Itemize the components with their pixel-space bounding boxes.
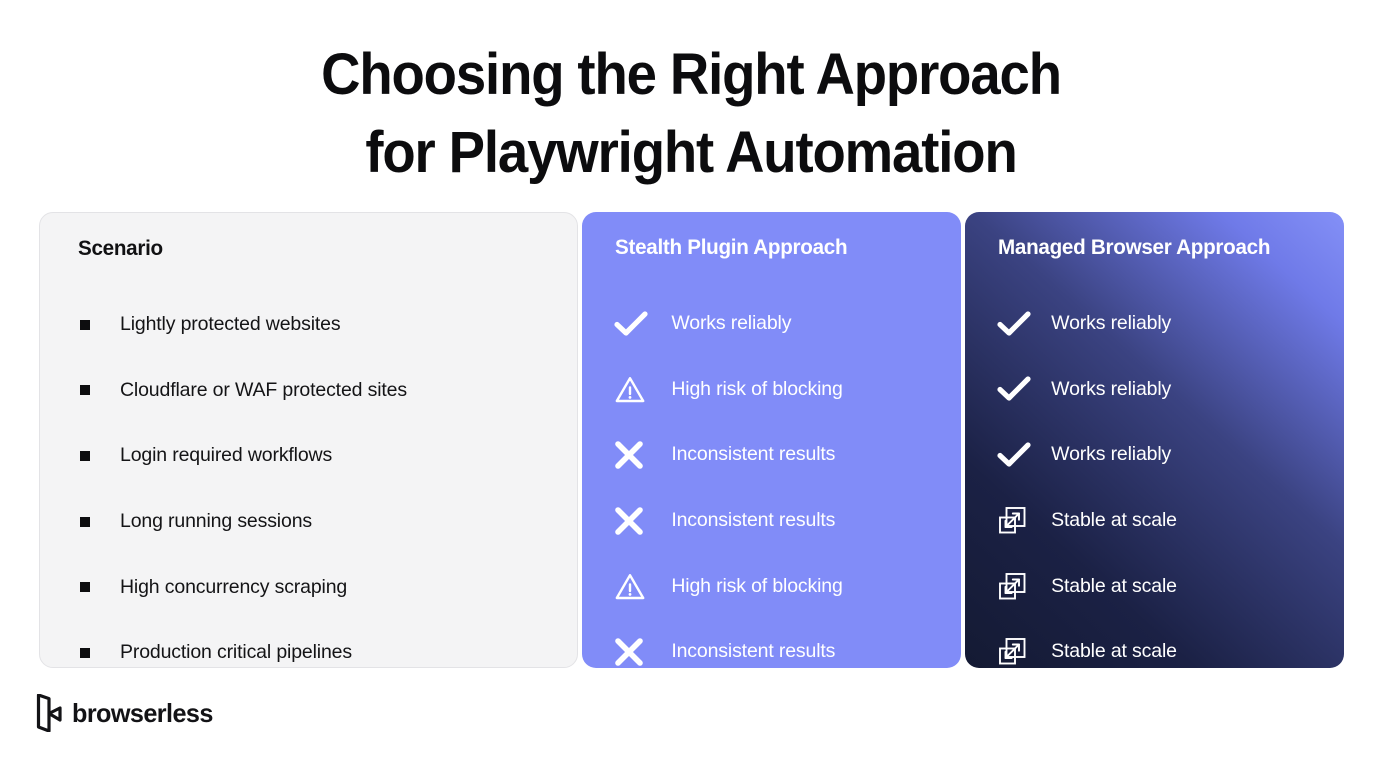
column-managed-rows: Works reliably Works reliably Works reli… (965, 291, 1344, 668)
x-mark-icon (614, 440, 654, 470)
table-row: Works reliably (965, 357, 1344, 423)
column-scenario-header: Scenario (78, 236, 163, 261)
table-row: Long running sessions (40, 489, 577, 555)
column-managed-header: Managed Browser Approach (998, 235, 1270, 260)
warning-triangle-icon (614, 375, 654, 404)
x-mark-icon (614, 506, 654, 536)
table-row: Works reliably (965, 291, 1344, 357)
comparison-table: Scenario Lightly protected websites Clou… (39, 212, 1344, 668)
result-label: Works reliably (671, 312, 791, 335)
scenario-label: Production critical pipelines (120, 641, 352, 664)
page-title: Choosing the Right Approach for Playwrig… (0, 36, 1382, 192)
check-icon (997, 310, 1037, 338)
result-label: Inconsistent results (671, 640, 835, 663)
square-bullet-icon (80, 385, 90, 395)
column-managed-browser: Managed Browser Approach Works reliably … (965, 212, 1344, 668)
scenario-label: High concurrency scraping (120, 576, 347, 599)
result-label: Works reliably (1051, 443, 1171, 466)
check-icon (997, 375, 1037, 403)
table-row: Production critical pipelines (40, 620, 577, 668)
infographic-page: Choosing the Right Approach for Playwrig… (0, 0, 1382, 770)
result-label: High risk of blocking (671, 575, 842, 598)
result-label: Stable at scale (1051, 509, 1177, 532)
result-label: High risk of blocking (671, 378, 842, 401)
table-row: Cloudflare or WAF protected sites (40, 358, 577, 424)
table-row: Lightly protected websites (40, 292, 577, 358)
check-icon (997, 441, 1037, 469)
table-row: Stable at scale (965, 619, 1344, 668)
square-bullet-icon (80, 451, 90, 461)
table-row: Works reliably (965, 422, 1344, 488)
page-title-line-1: Choosing the Right Approach (41, 36, 1340, 114)
result-label: Inconsistent results (671, 443, 835, 466)
scenario-label: Cloudflare or WAF protected sites (120, 379, 407, 402)
column-stealth-plugin: Stealth Plugin Approach Works reliably H… (582, 212, 961, 668)
square-bullet-icon (80, 320, 90, 330)
result-label: Stable at scale (1051, 575, 1177, 598)
table-row: Inconsistent results (582, 619, 961, 668)
table-row: Login required workflows (40, 423, 577, 489)
page-title-line-2: for Playwright Automation (41, 114, 1340, 192)
square-bullet-icon (80, 517, 90, 527)
square-bullet-icon (80, 648, 90, 658)
result-label: Works reliably (1051, 312, 1171, 335)
column-scenario-rows: Lightly protected websites Cloudflare or… (40, 292, 577, 668)
browserless-wordmark: browserless (72, 698, 213, 729)
table-row: High concurrency scraping (40, 554, 577, 620)
table-row: High risk of blocking (582, 357, 961, 423)
table-row: Stable at scale (965, 553, 1344, 619)
scale-expand-icon (997, 636, 1037, 667)
browserless-b-mark-icon (36, 694, 62, 732)
result-label: Inconsistent results (671, 509, 835, 532)
column-scenario: Scenario Lightly protected websites Clou… (39, 212, 578, 668)
table-row: Works reliably (582, 291, 961, 357)
table-row: Inconsistent results (582, 488, 961, 554)
column-stealth-header: Stealth Plugin Approach (615, 235, 847, 260)
square-bullet-icon (80, 582, 90, 592)
table-row: Inconsistent results (582, 422, 961, 488)
warning-triangle-icon (614, 572, 654, 601)
scale-expand-icon (997, 571, 1037, 602)
x-mark-icon (614, 637, 654, 667)
result-label: Works reliably (1051, 378, 1171, 401)
check-icon (614, 310, 654, 338)
column-stealth-rows: Works reliably High risk of blocking Inc… (582, 291, 961, 668)
browserless-logo: browserless (36, 694, 217, 732)
scenario-label: Lightly protected websites (120, 313, 340, 336)
scale-expand-icon (997, 505, 1037, 536)
table-row: High risk of blocking (582, 553, 961, 619)
scenario-label: Long running sessions (120, 510, 312, 533)
table-row: Stable at scale (965, 488, 1344, 554)
scenario-label: Login required workflows (120, 444, 332, 467)
result-label: Stable at scale (1051, 640, 1177, 663)
